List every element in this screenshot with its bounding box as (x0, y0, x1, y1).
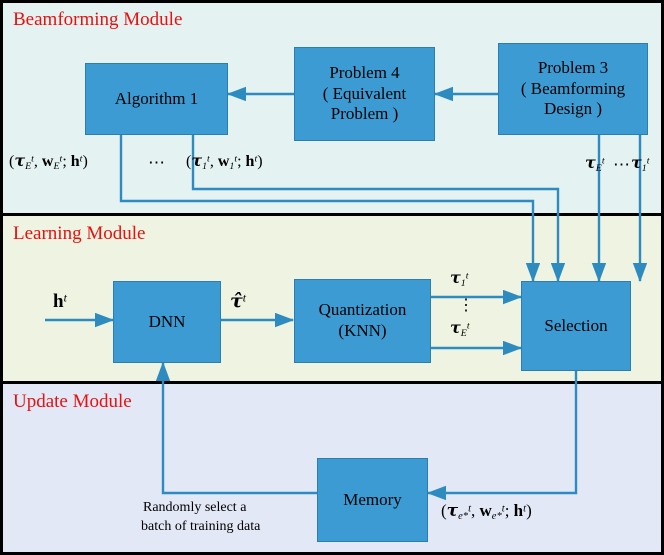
label-tau-hat: τ̂t (230, 290, 246, 313)
box-selection-label: Selection (544, 316, 607, 337)
label-tau-E-top: τEt (585, 153, 605, 174)
box-problem-3[interactable]: Problem 3 ( Beamforming Design ) (498, 43, 648, 135)
figure-root: Beamforming Module Learning Module Updat… (0, 0, 664, 555)
box-algorithm-1-label: Algorithm 1 (115, 89, 199, 110)
label-update-note-line1: Randomly select a (143, 500, 246, 516)
box-memory[interactable]: Memory (317, 458, 428, 542)
box-problem-4[interactable]: Problem 4 ( Equivalent Problem ) (294, 47, 435, 141)
box-problem-3-line1: Problem 3 (538, 58, 608, 79)
label-beamforming-dots: ⋯ (148, 153, 167, 173)
label-beamforming-out-right: (τ1t, w1t; ht) (186, 151, 263, 172)
label-tau-E-mid: τEt (450, 318, 470, 339)
label-tau-dots-top: ⋯ (613, 155, 632, 175)
box-dnn[interactable]: DNN (113, 281, 221, 363)
label-tau-1-top: τ1t (631, 153, 649, 174)
band-title-learning: Learning Module (13, 223, 145, 245)
label-beamforming-out-left: (τEt, wEt; ht) (9, 151, 88, 172)
box-problem-4-line2: ( Equivalent (323, 84, 407, 105)
box-quantization-line2: (KNN) (338, 321, 386, 342)
box-algorithm-1[interactable]: Algorithm 1 (85, 63, 228, 135)
box-problem-4-line1: Problem 4 (329, 63, 399, 84)
label-memory-out: (τe*t, we*t; ht) (441, 501, 532, 522)
box-problem-3-line3: Design ) (544, 99, 602, 120)
box-quantization-line1: Quantization (319, 300, 407, 321)
label-vdots-mid: ⋮ (458, 295, 474, 315)
label-h-input: ht (53, 291, 67, 313)
box-selection[interactable]: Selection (521, 281, 631, 371)
box-memory-label: Memory (343, 490, 402, 511)
box-problem-3-line2: ( Beamforming (521, 79, 625, 100)
band-title-beamforming: Beamforming Module (13, 9, 182, 31)
label-update-note-line2: batch of training data (141, 519, 260, 535)
box-dnn-label: DNN (149, 312, 186, 333)
band-title-update: Update Module (13, 391, 132, 413)
label-tau-1-mid: τ1t (450, 268, 468, 289)
box-quantization[interactable]: Quantization (KNN) (294, 279, 431, 363)
box-problem-4-line3: Problem ) (331, 104, 399, 125)
